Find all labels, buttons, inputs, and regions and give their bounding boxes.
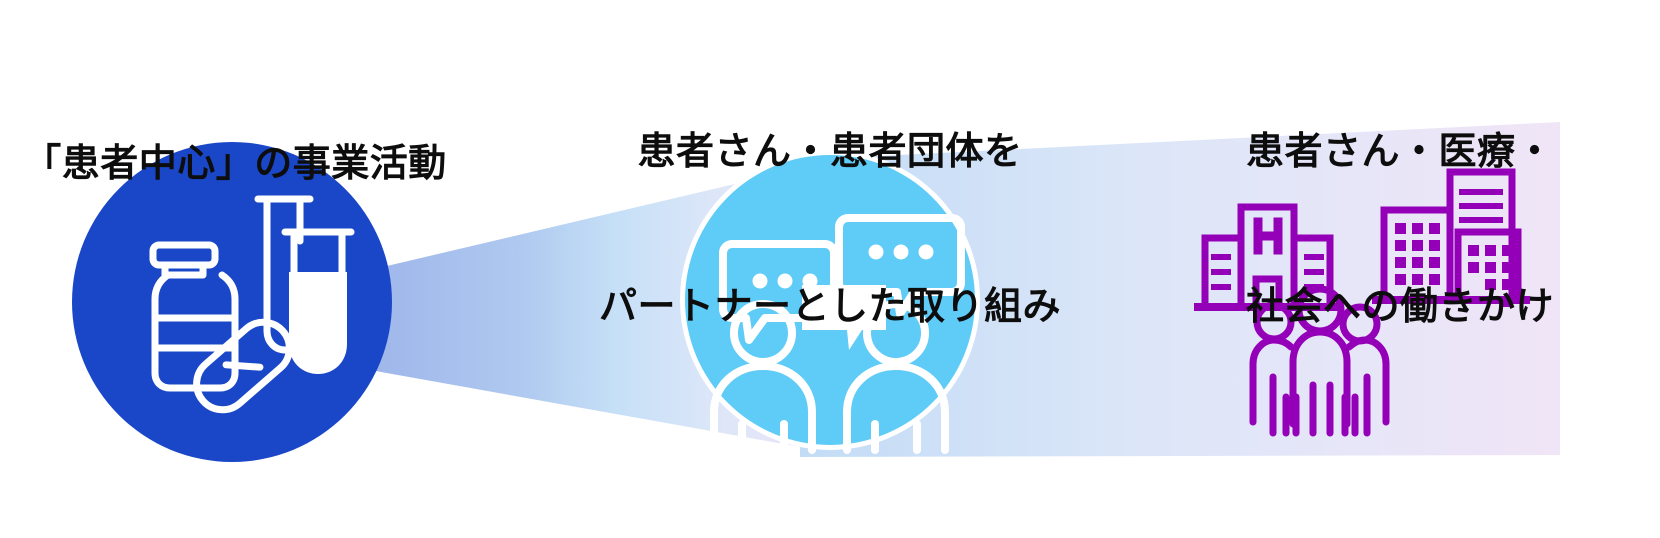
section-3-title-line-1: 患者さん・医療・ [1150,127,1650,179]
section-1-title: 「患者中心」の事業活動 [0,36,470,294]
section-3-title-line-2: 社会への働きかけ [1150,282,1650,334]
section-3-title: 患者さん・医療・ 社会への働きかけ [1150,24,1650,437]
section-2-title-line-2: パートナーとした取り組み [570,282,1090,334]
infographic-canvas: 「患者中心」の事業活動 患者さん・患者団体を パートナーとした取り組み 患者さん… [0,0,1660,538]
section-2-title: 患者さん・患者団体を パートナーとした取り組み [570,24,1090,437]
section-1-title-line-1: 「患者中心」の事業活動 [0,139,470,191]
section-2-title-line-1: 患者さん・患者団体を [570,127,1090,179]
